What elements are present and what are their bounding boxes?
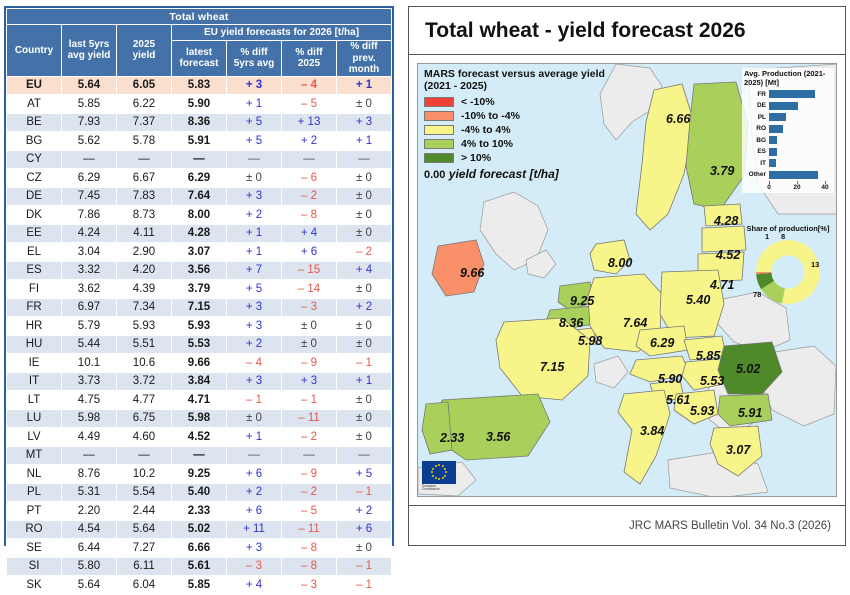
cell-diff-5yrs: + 1 xyxy=(227,243,282,262)
bar-axis-tick-label: 40 xyxy=(821,184,828,191)
map-label-france: 7.15 xyxy=(540,360,564,374)
cell-2025: — xyxy=(117,150,172,169)
cell-2025: 7.37 xyxy=(117,113,172,132)
donut-slice-label: 13 xyxy=(811,260,819,269)
map-label-slovakia: 5.85 xyxy=(696,349,720,363)
map-footer: JRC MARS Bulletin Vol. 34 No.3 (2026) xyxy=(409,505,845,545)
cell-country: IT xyxy=(7,372,62,391)
bar-track xyxy=(769,159,832,167)
table-row: MT—————— xyxy=(7,446,392,465)
donut-slice-label: 78 xyxy=(753,290,761,299)
bar-category-label: FR xyxy=(744,91,766,98)
cell-forecast: 9.66 xyxy=(172,354,227,373)
cell-diff-2025: – 3 xyxy=(282,298,337,317)
cell-forecast: 8.00 xyxy=(172,206,227,225)
col-header-diff-2025: % diff2025 xyxy=(282,41,337,77)
map-label-estonia: 4.28 xyxy=(714,214,738,228)
cell-diff-5yrs: + 5 xyxy=(227,132,282,151)
legend-class-row: -4% to 4% xyxy=(424,123,622,136)
cell-country: SE xyxy=(7,539,62,558)
table-title-row: Total wheat xyxy=(7,9,392,25)
cell-diff-5yrs: – 4 xyxy=(227,354,282,373)
cell-diff-prev: — xyxy=(337,446,392,465)
cell-2025: 10.2 xyxy=(117,465,172,484)
bulletin-reference: JRC MARS Bulletin Vol. 34 No.3 (2026) xyxy=(629,520,831,532)
donut-slice-label: 8 xyxy=(781,232,785,241)
cell-forecast: 4.52 xyxy=(172,428,227,447)
bar-chart-row: IT xyxy=(744,158,832,168)
cell-diff-5yrs: – 1 xyxy=(227,391,282,410)
cell-country: LV xyxy=(7,428,62,447)
cell-diff-5yrs: + 6 xyxy=(227,465,282,484)
map-label-netherlands: 9.25 xyxy=(570,294,594,308)
cell-forecast: 4.71 xyxy=(172,391,227,410)
cell-diff-2025: – 8 xyxy=(282,557,337,576)
cell-2025: 6.67 xyxy=(117,169,172,188)
cell-diff-prev: ± 0 xyxy=(337,95,392,114)
bar-category-label: RO xyxy=(744,125,766,132)
cell-2025: 5.93 xyxy=(117,317,172,336)
cell-avg5: 5.62 xyxy=(62,132,117,151)
cell-diff-2025: – 2 xyxy=(282,428,337,447)
map-label-sweden: 6.66 xyxy=(666,112,690,126)
cell-2025: 6.22 xyxy=(117,95,172,114)
table-row: SI5.806.115.61– 3– 8– 1 xyxy=(7,557,392,576)
eu-flag-caption: EuropeanCommission xyxy=(422,485,456,492)
map-label-greece: 3.07 xyxy=(726,443,750,457)
cell-avg5: 6.44 xyxy=(62,539,117,558)
table-row: LU5.986.755.98± 0– 11± 0 xyxy=(7,409,392,428)
bar-axis-tick-label: 20 xyxy=(793,184,800,191)
table-head: Total wheat Country last 5yrsavg yield 2… xyxy=(7,9,392,77)
region-france xyxy=(496,318,590,400)
cell-country: CZ xyxy=(7,169,62,188)
legend-class-list: < -10%-10% to -4%-4% to 4%4% to 10%> 10% xyxy=(424,95,622,164)
cell-avg5: 5.98 xyxy=(62,409,117,428)
cell-avg5: 5.44 xyxy=(62,335,117,354)
cell-country: RO xyxy=(7,520,62,539)
cell-forecast: 3.84 xyxy=(172,372,227,391)
cell-avg5: 5.64 xyxy=(62,576,117,595)
cell-forecast: 5.98 xyxy=(172,409,227,428)
eu-flag-logo: EuropeanCommission xyxy=(422,461,456,492)
bar-category-label: Other xyxy=(744,171,766,178)
table-row: SE6.447.276.66+ 3– 8± 0 xyxy=(7,539,392,558)
table-row: RO4.545.645.02+ 11– 11+ 6 xyxy=(7,520,392,539)
cell-diff-prev: + 1 xyxy=(337,132,392,151)
cell-avg5: 5.80 xyxy=(62,557,117,576)
cell-diff-2025: – 5 xyxy=(282,95,337,114)
map-canvas[interactable]: MARS forecast versus average yield (2021… xyxy=(417,63,837,497)
col-header-avg5: last 5yrsavg yield xyxy=(62,25,117,77)
cell-2025: 5.54 xyxy=(117,483,172,502)
legend-class-row: 4% to 10% xyxy=(424,137,622,150)
bar-chart-row: PL xyxy=(744,112,832,122)
cell-avg5: 8.76 xyxy=(62,465,117,484)
bar-fill xyxy=(769,113,786,121)
table-row: EE4.244.114.28+ 1+ 4± 0 xyxy=(7,224,392,243)
map-label-spain: 3.56 xyxy=(486,430,510,444)
cell-avg5: 3.04 xyxy=(62,243,117,262)
cell-country: IE xyxy=(7,354,62,373)
cell-country: EE xyxy=(7,224,62,243)
cell-forecast: 2.33 xyxy=(172,502,227,521)
cell-forecast: 5.83 xyxy=(172,76,227,95)
cell-avg5: 4.54 xyxy=(62,520,117,539)
cell-country: HR xyxy=(7,317,62,336)
table-row: NL8.7610.29.25+ 6– 9+ 5 xyxy=(7,465,392,484)
region-finland xyxy=(686,82,748,210)
map-label-italy: 3.84 xyxy=(640,424,664,438)
map-label-lithuania: 4.71 xyxy=(710,278,734,292)
cell-diff-2025: + 2 xyxy=(282,132,337,151)
legend-class-row: > 10% xyxy=(424,151,622,164)
production-bar-chart: Avg. Production (2021-2025) [Mt] FRDEPLR… xyxy=(742,68,834,193)
legend-class-label: -4% to 4% xyxy=(461,124,511,136)
table-row: LT4.754.774.71– 1– 1± 0 xyxy=(7,391,392,410)
cell-diff-5yrs: + 1 xyxy=(227,95,282,114)
table-row: CZ6.296.676.29± 0– 6± 0 xyxy=(7,169,392,188)
bar-axis-tick-label: 0 xyxy=(767,184,771,191)
cell-country: BG xyxy=(7,132,62,151)
cell-forecast: 5.85 xyxy=(172,576,227,595)
legend-class-row: -10% to -4% xyxy=(424,109,622,122)
cell-forecast: 9.25 xyxy=(172,465,227,484)
bar-chart-row: RO xyxy=(744,124,832,134)
map-label-belgium: 8.36 xyxy=(559,316,583,330)
cell-diff-prev: — xyxy=(337,150,392,169)
cell-2025: 3.72 xyxy=(117,372,172,391)
cell-diff-2025: – 11 xyxy=(282,520,337,539)
cell-avg5: 7.86 xyxy=(62,206,117,225)
cell-diff-prev: – 2 xyxy=(337,243,392,262)
cell-diff-5yrs: + 3 xyxy=(227,372,282,391)
cell-diff-5yrs: – 3 xyxy=(227,557,282,576)
table-group-row: Country last 5yrsavg yield 2025yield EU … xyxy=(7,25,392,41)
table-row: ES3.324.203.56+ 7– 15+ 4 xyxy=(7,261,392,280)
map-label-hungary: 5.53 xyxy=(700,374,724,388)
table-row: PT2.202.442.33+ 6– 5+ 2 xyxy=(7,502,392,521)
cell-avg5: 6.97 xyxy=(62,298,117,317)
table-row: EU5.646.055.83+ 3– 4+ 1 xyxy=(7,76,392,95)
cell-forecast: 3.56 xyxy=(172,261,227,280)
cell-forecast: 6.29 xyxy=(172,169,227,188)
cell-diff-5yrs: + 3 xyxy=(227,76,282,95)
cell-diff-5yrs: + 1 xyxy=(227,224,282,243)
bar-track xyxy=(769,148,832,156)
cell-diff-5yrs: + 1 xyxy=(227,428,282,447)
table-row: AT5.856.225.90+ 1– 5± 0 xyxy=(7,95,392,114)
cell-country: PL xyxy=(7,483,62,502)
cell-forecast: — xyxy=(172,446,227,465)
cell-diff-5yrs: + 5 xyxy=(227,113,282,132)
col-header-country: Country xyxy=(7,25,62,77)
cell-2025: — xyxy=(117,446,172,465)
bar-fill xyxy=(769,136,777,144)
bar-track xyxy=(769,136,832,144)
cell-forecast: 6.66 xyxy=(172,539,227,558)
map-panel: Total wheat - yield forecast 2026 xyxy=(408,6,846,546)
map-label-croatia: 5.93 xyxy=(690,404,714,418)
cell-diff-2025: – 2 xyxy=(282,483,337,502)
cell-country: ES xyxy=(7,261,62,280)
cell-diff-5yrs: + 2 xyxy=(227,206,282,225)
eu-flag-icon xyxy=(422,461,456,484)
legend-title: MARS forecast versus average yield (2021… xyxy=(424,68,622,92)
cell-country: EU xyxy=(7,76,62,95)
cell-diff-prev: ± 0 xyxy=(337,539,392,558)
cell-diff-2025: – 6 xyxy=(282,169,337,188)
cell-diff-prev: ± 0 xyxy=(337,335,392,354)
cell-diff-prev: – 1 xyxy=(337,576,392,595)
table-row: DE7.457.837.64+ 3– 2± 0 xyxy=(7,187,392,206)
legend-color-swatch xyxy=(424,125,454,135)
bar-track xyxy=(769,113,832,121)
cell-avg5: 5.64 xyxy=(62,76,117,95)
cell-diff-2025: – 5 xyxy=(282,502,337,521)
legend-color-swatch xyxy=(424,111,454,121)
cell-country: LT xyxy=(7,391,62,410)
donut-ring xyxy=(756,240,820,304)
donut-chart-title: Share of production[%] xyxy=(742,224,834,233)
cell-forecast: 5.90 xyxy=(172,95,227,114)
bar-track xyxy=(769,90,832,98)
bar-fill xyxy=(769,125,783,133)
cell-avg5: — xyxy=(62,446,117,465)
yield-table: Total wheat Country last 5yrsavg yield 2… xyxy=(6,8,392,595)
bar-category-label: PL xyxy=(744,114,766,121)
bar-chart-rows: FRDEPLROBGESITOther xyxy=(744,89,832,180)
cell-diff-2025: ± 0 xyxy=(282,317,337,336)
cell-diff-5yrs: + 3 xyxy=(227,317,282,336)
bar-category-label: IT xyxy=(744,160,766,167)
legend-class-label: > 10% xyxy=(461,152,491,164)
yield-table-panel: Total wheat Country last 5yrsavg yield 2… xyxy=(4,6,394,546)
cell-diff-2025: – 15 xyxy=(282,261,337,280)
cell-forecast: 3.07 xyxy=(172,243,227,262)
cell-2025: 5.51 xyxy=(117,335,172,354)
table-row: FI3.624.393.79+ 5– 14± 0 xyxy=(7,280,392,299)
cell-diff-5yrs: + 5 xyxy=(227,280,282,299)
table-row: EL3.042.903.07+ 1+ 6– 2 xyxy=(7,243,392,262)
cell-avg5: — xyxy=(62,150,117,169)
cell-country: NL xyxy=(7,465,62,484)
legend-class-label: < -10% xyxy=(461,96,495,108)
cell-2025: 2.90 xyxy=(117,243,172,262)
cell-diff-5yrs: + 6 xyxy=(227,502,282,521)
cell-country: DK xyxy=(7,206,62,225)
donut-slice-label: 1 xyxy=(765,232,769,241)
cell-diff-2025: – 9 xyxy=(282,465,337,484)
cell-avg5: 2.20 xyxy=(62,502,117,521)
cell-forecast: 5.61 xyxy=(172,557,227,576)
bar-track xyxy=(769,125,832,133)
cell-diff-5yrs: — xyxy=(227,446,282,465)
cell-diff-2025: — xyxy=(282,150,337,169)
cell-forecast: 7.15 xyxy=(172,298,227,317)
bar-category-label: ES xyxy=(744,148,766,155)
bar-chart-title: Avg. Production (2021-2025) [Mt] xyxy=(744,70,832,87)
cell-diff-5yrs: + 2 xyxy=(227,483,282,502)
legend-value-caption: 0.00 yield forecast [t/ha] xyxy=(424,167,622,181)
cell-forecast: 8.36 xyxy=(172,113,227,132)
cell-avg5: 7.93 xyxy=(62,113,117,132)
legend-title-line1: MARS forecast versus average yield xyxy=(424,68,622,80)
table-row: HR5.795.935.93+ 3± 0± 0 xyxy=(7,317,392,336)
table-row: IE10.110.69.66– 4– 9– 1 xyxy=(7,354,392,373)
cell-country: MT xyxy=(7,446,62,465)
cell-avg5: 10.1 xyxy=(62,354,117,373)
cell-diff-prev: + 4 xyxy=(337,261,392,280)
share-donut-chart: Share of production[%] 781381 xyxy=(742,224,834,310)
cell-diff-prev: + 1 xyxy=(337,372,392,391)
bar-fill xyxy=(769,148,777,156)
cell-diff-prev: ± 0 xyxy=(337,428,392,447)
map-label-poland: 5.40 xyxy=(686,293,710,307)
map-label-latvia: 4.52 xyxy=(716,248,740,262)
cell-2025: 5.64 xyxy=(117,520,172,539)
cell-diff-prev: – 1 xyxy=(337,557,392,576)
legend-value-example: 0.00 xyxy=(424,169,445,181)
bar-fill xyxy=(769,90,815,98)
cell-forecast: 4.28 xyxy=(172,224,227,243)
col-header-forecast: latestforecast xyxy=(172,41,227,77)
bar-category-label: DE xyxy=(744,102,766,109)
cell-diff-2025: – 1 xyxy=(282,391,337,410)
cell-2025: 7.27 xyxy=(117,539,172,558)
cell-diff-prev: ± 0 xyxy=(337,391,392,410)
cell-2025: 4.60 xyxy=(117,428,172,447)
cell-diff-2025: + 3 xyxy=(282,372,337,391)
cell-avg5: 4.49 xyxy=(62,428,117,447)
cell-diff-5yrs: + 2 xyxy=(227,335,282,354)
cell-diff-prev: + 3 xyxy=(337,113,392,132)
cell-country: AT xyxy=(7,95,62,114)
bar-track xyxy=(769,102,832,110)
cell-2025: 4.39 xyxy=(117,280,172,299)
bar-chart-axis: 02040 xyxy=(769,181,832,192)
cell-avg5: 6.29 xyxy=(62,169,117,188)
legend-value-text: yield forecast [t/ha] xyxy=(449,167,559,181)
cell-country: DE xyxy=(7,187,62,206)
table-row: FR6.977.347.15+ 3– 3+ 2 xyxy=(7,298,392,317)
map-label-portugal: 2.33 xyxy=(440,431,464,445)
map-label-ireland: 9.66 xyxy=(460,266,484,280)
cell-diff-2025: — xyxy=(282,446,337,465)
bar-fill xyxy=(769,171,818,179)
map-label-austria: 5.90 xyxy=(658,372,682,386)
cell-diff-prev: + 2 xyxy=(337,298,392,317)
map-label-germany: 7.64 xyxy=(623,316,647,330)
cell-diff-2025: – 11 xyxy=(282,409,337,428)
cell-forecast: 5.93 xyxy=(172,317,227,336)
cell-diff-2025: – 8 xyxy=(282,539,337,558)
cell-country: CY xyxy=(7,150,62,169)
cell-diff-5yrs: — xyxy=(227,150,282,169)
cell-avg5: 5.85 xyxy=(62,95,117,114)
cell-diff-prev: ± 0 xyxy=(337,409,392,428)
cell-diff-2025: – 3 xyxy=(282,576,337,595)
cell-diff-prev: ± 0 xyxy=(337,317,392,336)
map-label-denmark: 8.00 xyxy=(608,256,632,270)
map-label-romania: 5.02 xyxy=(736,362,760,376)
cell-country: LU xyxy=(7,409,62,428)
col-header-2025: 2025yield xyxy=(117,25,172,77)
cell-diff-prev: ± 0 xyxy=(337,187,392,206)
cell-diff-prev: – 1 xyxy=(337,354,392,373)
cell-2025: 7.34 xyxy=(117,298,172,317)
legend-title-line2: (2021 - 2025) xyxy=(424,80,622,92)
cell-forecast: 5.53 xyxy=(172,335,227,354)
cell-forecast: 5.91 xyxy=(172,132,227,151)
map-legend: MARS forecast versus average yield (2021… xyxy=(424,68,622,181)
cell-country: SI xyxy=(7,557,62,576)
map-label-slovenia: 5.61 xyxy=(666,393,690,407)
col-header-diff-prev: % diffprev.month xyxy=(337,41,392,77)
table-row: DK7.868.738.00+ 2– 8± 0 xyxy=(7,206,392,225)
cell-diff-2025: – 14 xyxy=(282,280,337,299)
donut-chart-graphic: 781381 xyxy=(745,234,831,310)
cell-2025: 6.11 xyxy=(117,557,172,576)
map-label-luxembourg: 5.98 xyxy=(578,334,602,348)
cell-forecast: 3.79 xyxy=(172,280,227,299)
legend-class-label: 4% to 10% xyxy=(461,138,513,150)
table-row: SK5.646.045.85+ 4– 3– 1 xyxy=(7,576,392,595)
region-portugal xyxy=(422,402,452,454)
cell-diff-2025: ± 0 xyxy=(282,335,337,354)
cell-avg5: 3.73 xyxy=(62,372,117,391)
cell-forecast: 7.64 xyxy=(172,187,227,206)
cell-2025: 5.78 xyxy=(117,132,172,151)
bar-chart-row: BG xyxy=(744,135,832,145)
bar-chart-row: DE xyxy=(744,101,832,111)
cell-diff-2025: – 8 xyxy=(282,206,337,225)
cell-avg5: 5.31 xyxy=(62,483,117,502)
bar-chart-row: ES xyxy=(744,147,832,157)
cell-2025: 4.77 xyxy=(117,391,172,410)
map-title: Total wheat - yield forecast 2026 xyxy=(409,7,845,55)
cell-diff-2025: + 13 xyxy=(282,113,337,132)
map-label-czechia: 6.29 xyxy=(650,336,674,350)
table-row: LV4.494.604.52+ 1– 2± 0 xyxy=(7,428,392,447)
table-row: BE7.937.378.36+ 5+ 13+ 3 xyxy=(7,113,392,132)
cell-diff-2025: – 9 xyxy=(282,354,337,373)
map-label-finland: 3.79 xyxy=(710,164,734,178)
table-row: BG5.625.785.91+ 5+ 2+ 1 xyxy=(7,132,392,151)
cell-avg5: 3.32 xyxy=(62,261,117,280)
cell-avg5: 5.79 xyxy=(62,317,117,336)
cell-avg5: 3.62 xyxy=(62,280,117,299)
table-row: PL5.315.545.40+ 2– 2– 1 xyxy=(7,483,392,502)
cell-diff-prev: + 1 xyxy=(337,76,392,95)
cell-2025: 8.73 xyxy=(117,206,172,225)
cell-diff-5yrs: + 7 xyxy=(227,261,282,280)
cell-country: BE xyxy=(7,113,62,132)
cell-country: HU xyxy=(7,335,62,354)
cell-diff-prev: ± 0 xyxy=(337,280,392,299)
cell-diff-5yrs: + 3 xyxy=(227,187,282,206)
bar-track xyxy=(769,171,832,179)
cell-diff-5yrs: + 3 xyxy=(227,539,282,558)
map-label-bulgaria: 5.91 xyxy=(738,406,762,420)
col-header-diff-5yrs: % diff5yrs avg xyxy=(227,41,282,77)
table-row: HU5.445.515.53+ 2± 0± 0 xyxy=(7,335,392,354)
cell-diff-5yrs: ± 0 xyxy=(227,169,282,188)
cell-diff-2025: – 2 xyxy=(282,187,337,206)
cell-diff-prev: + 6 xyxy=(337,520,392,539)
col-group-header: EU yield forecasts for 2026 [t/ha] xyxy=(172,25,392,41)
cell-diff-prev: ± 0 xyxy=(337,169,392,188)
